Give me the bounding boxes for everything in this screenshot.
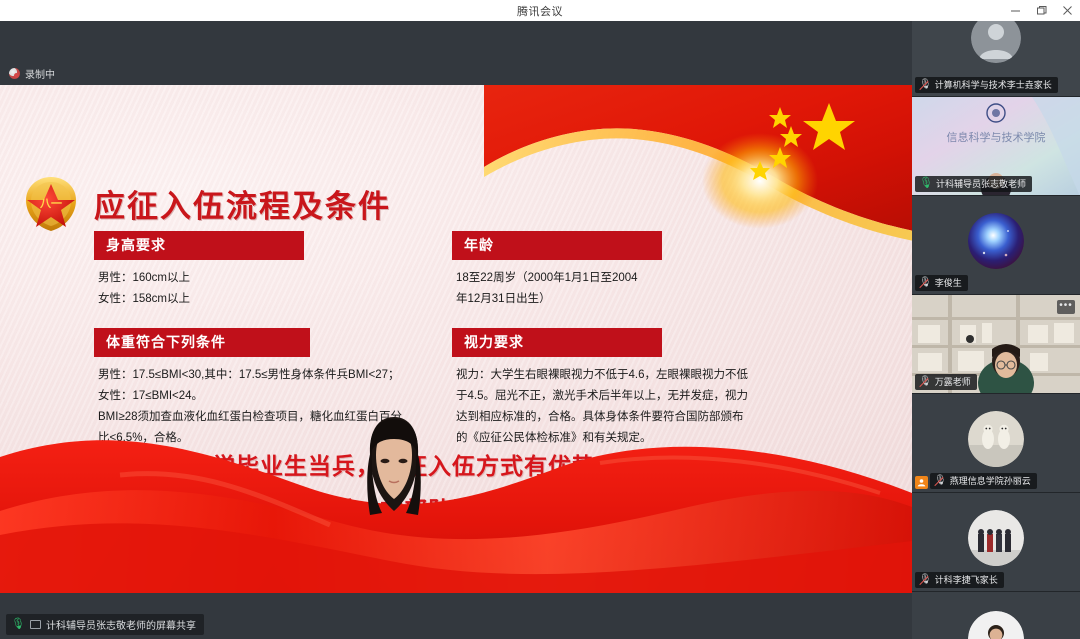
section-heading: 视力要求 — [452, 328, 662, 357]
screen-share-icon — [30, 620, 41, 629]
avatar — [968, 213, 1024, 269]
section-body: 18至22周岁（2000年1月1日至2004 年12月31日出生） — [456, 268, 772, 310]
screen-share-status: 🎙 计科辅导员张志敬老师的屏幕共享 — [6, 614, 204, 635]
recording-dot-icon — [9, 68, 20, 79]
microphone-muted-icon: 🎙 — [919, 377, 932, 387]
army-emblem-icon: 八一 — [18, 173, 84, 235]
recording-indicator: 录制中 — [9, 66, 55, 81]
section-line: 年12月31日出生） — [456, 289, 772, 310]
section-height: 身高要求 男性：160cm以上 女性：158cm以上 — [94, 231, 424, 310]
section-heading: 身高要求 — [94, 231, 304, 260]
svg-text:八一: 八一 — [39, 197, 62, 210]
window-controls — [1002, 0, 1080, 21]
microphone-muted-icon: 🎙 — [934, 476, 947, 486]
avatar — [968, 411, 1024, 467]
host-badge-icon — [915, 476, 928, 489]
participant-name: 计算机科学与技术李士垚家长 — [935, 78, 1052, 91]
section-heading: 年龄 — [452, 231, 662, 260]
participant-tile[interactable]: 🎙 计算机科学与技术李士垚家长 — [912, 21, 1080, 97]
participant-tile[interactable]: 信息科学与技术学院 🎙 计科辅导员张志敬老师 — [912, 97, 1080, 196]
section-heading: 体重符合下列条件 — [94, 328, 310, 357]
participant-name: 计科李捷飞家长 — [935, 573, 998, 586]
slide-title: 应征入伍流程及条件 — [94, 181, 391, 226]
participant-name-pill: 🎙 燕理信息学院孙丽云 — [930, 473, 1037, 490]
participant-name-pill: 🎙 李俊生 — [915, 275, 968, 292]
section-line: 男性：160cm以上 — [98, 268, 424, 289]
minimize-button[interactable] — [1002, 0, 1028, 21]
participant-name-pill: 🎙 计科李捷飞家长 — [915, 572, 1004, 589]
participant-tile[interactable] — [912, 592, 1080, 639]
participant-tile[interactable]: 🎙 计科李捷飞家长 — [912, 493, 1080, 592]
section-line: 女性：17≤BMI<24。 — [98, 386, 424, 407]
section-line: 18至22周岁（2000年1月1日至2004 — [456, 268, 772, 289]
participant-rail[interactable]: 🎙 计算机科学与技术李士垚家长 — [912, 21, 1080, 639]
presenter-video-cutout — [352, 411, 436, 529]
participant-tile[interactable]: 🎙 燕理信息学院孙丽云 — [912, 394, 1080, 493]
section-age: 年龄 18至22周岁（2000年1月1日至2004 年12月31日出生） — [452, 231, 772, 310]
section-line: 视力：大学生右眼裸眼视力不低于4.6，左眼裸眼视力不低 — [456, 365, 772, 386]
section-line: 女性：158cm以上 — [98, 289, 424, 310]
participant-name: 燕理信息学院孙丽云 — [950, 474, 1031, 487]
microphone-on-icon: 🎙 — [11, 619, 25, 630]
meeting-window: 腾讯会议 录制中 — [0, 0, 1080, 639]
participant-tile[interactable]: ••• 🎙 万露老师 — [912, 295, 1080, 394]
microphone-muted-icon: 🎙 — [919, 575, 932, 585]
participant-name: 计科辅导员张志敬老师 — [936, 177, 1026, 190]
titlebar: 腾讯会议 — [0, 0, 1080, 21]
microphone-on-icon: 🎙 — [919, 178, 933, 189]
screen-share-label: 计科辅导员张志敬老师的屏幕共享 — [46, 617, 196, 632]
presentation-slide: 八一 应征入伍流程及条件 身高要求 男性：160cm以上 女性：158cm以上 — [0, 85, 912, 593]
participant-name-pill: 🎙 计科辅导员张志敬老师 — [915, 176, 1032, 193]
microphone-muted-icon: 🎙 — [919, 278, 932, 288]
participant-name: 万露老师 — [935, 375, 971, 388]
window-title: 腾讯会议 — [517, 3, 563, 19]
svg-text:信息科学与技术学院: 信息科学与技术学院 — [947, 130, 1046, 144]
section-line: 男性：17.5≤BMI<30,其中：17.5≤男性身体条件兵BMI<27； — [98, 365, 424, 386]
avatar — [968, 510, 1024, 566]
participant-name-pill: 🎙 计算机科学与技术李士垚家长 — [915, 77, 1058, 94]
red-silk-decoration — [0, 415, 912, 593]
more-options-icon[interactable]: ••• — [1057, 300, 1075, 314]
restore-button[interactable] — [1028, 0, 1054, 21]
participant-tile[interactable]: 🎙 李俊生 — [912, 196, 1080, 295]
meeting-body: 录制中 — [0, 21, 1080, 639]
microphone-muted-icon: 🎙 — [919, 80, 932, 90]
section-line: 于4.5。屈光不正，激光手术后半年以上，无并发症，视力 — [456, 386, 772, 407]
section-body: 男性：160cm以上 女性：158cm以上 — [98, 268, 424, 310]
shared-screen-stage[interactable]: 录制中 — [0, 21, 912, 639]
participant-name-pill: 🎙 万露老师 — [915, 374, 977, 391]
participant-name: 李俊生 — [935, 276, 962, 289]
recording-label: 录制中 — [25, 66, 55, 81]
close-button[interactable] — [1054, 0, 1080, 21]
stage-footer: 🎙 计科辅导员张志敬老师的屏幕共享 — [0, 593, 912, 639]
